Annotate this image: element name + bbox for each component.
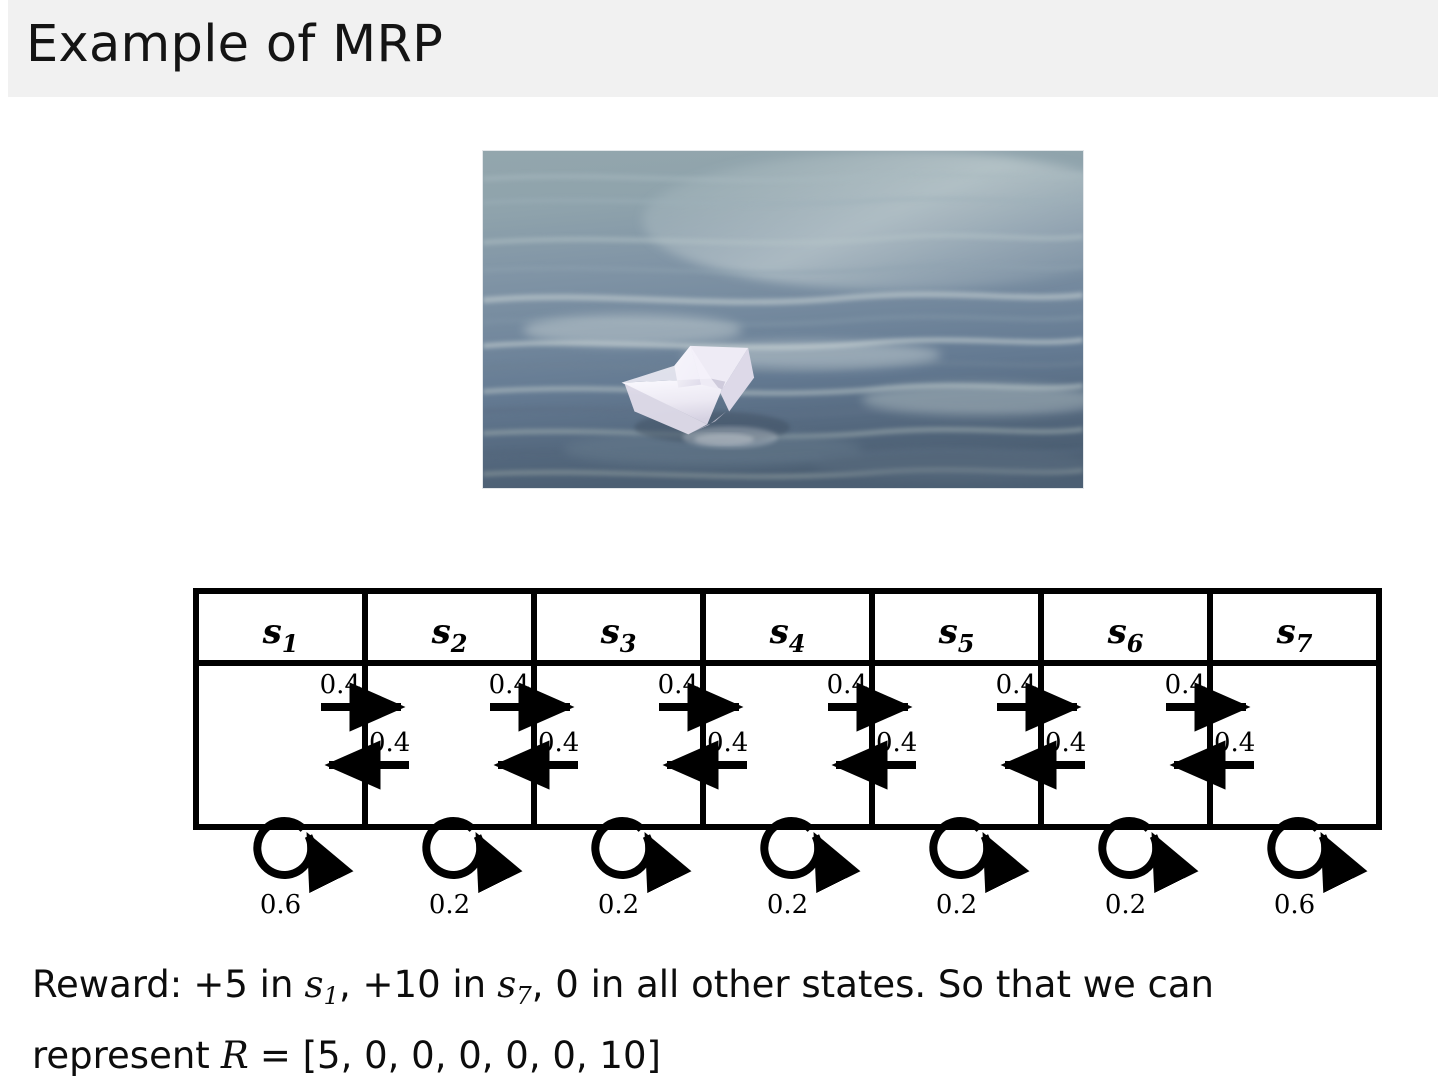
state-label-4: s4 [769,612,806,658]
transition-prob-right-3: 0.4 [658,670,699,700]
self-loop-probability-5: 0.2 [936,890,977,920]
mrp-chain-diagram: s10.6s20.2s30.2s40.2s50.2s60.2s70.60.40.… [193,588,1378,908]
caption-other-states: , 0 in all other states. So that we can [532,963,1214,1006]
caption-state-s1-sub: 1 [324,981,340,1010]
transition-prob-right-2: 0.4 [489,670,530,700]
caption-represent-label: represent [32,1034,210,1077]
caption-reward-label: Reward: [32,963,182,1006]
transition-prob-left-3: 0.4 [707,728,748,758]
state-label-7: s7 [1276,612,1313,658]
reward-caption: Reward:+5 ins1, +10 ins7, 0 in all other… [32,955,1392,1086]
transition-prob-right-6: 0.4 [1165,670,1206,700]
transition-prob-right-4: 0.4 [827,670,868,700]
state-label-1: s1 [262,612,299,658]
state-label-5: s5 [938,612,975,658]
self-loop-probability-7: 0.6 [1274,890,1315,920]
self-loop-probability-3: 0.2 [598,890,639,920]
self-loop-probability-6: 0.2 [1105,890,1146,920]
mrp-chain-svg: s10.6s20.2s30.2s40.2s50.2s60.2s70.60.40.… [193,588,1386,934]
self-loop-probability-2: 0.2 [429,890,470,920]
caption-state-s7-sub: 7 [516,981,532,1010]
self-loop-probability-4: 0.2 [767,890,808,920]
caption-reward-s7-value: , +10 in [339,963,486,1006]
state-label-2: s2 [431,612,468,658]
caption-state-s1: s [305,963,324,1006]
self-loop-probability-1: 0.6 [260,890,301,920]
transition-prob-left-1: 0.4 [369,728,410,758]
slide-header-bar: Example of MRP [8,0,1438,97]
caption-line-2: representR= [5, 0, 0, 0, 0, 0, 10] [32,1026,1392,1086]
caption-line-1: Reward:+5 ins1, +10 ins7, 0 in all other… [32,955,1392,1026]
paper-boat-photo [482,150,1084,489]
caption-reward-vector-symbol: R [221,1034,249,1077]
state-label-6: s6 [1107,612,1144,658]
transition-prob-left-2: 0.4 [538,728,579,758]
caption-reward-s1-value: +5 in [193,963,293,1006]
paper-boat-illustration [483,151,1083,488]
caption-reward-vector-values: = [5, 0, 0, 0, 0, 0, 10] [260,1034,661,1077]
caption-state-s7: s [497,963,516,1006]
transition-prob-right-1: 0.4 [320,670,361,700]
transition-prob-right-5: 0.4 [996,670,1037,700]
transition-prob-left-4: 0.4 [876,728,917,758]
page-title: Example of MRP [26,8,443,82]
transition-prob-left-5: 0.4 [1045,728,1086,758]
transition-prob-left-6: 0.4 [1214,728,1255,758]
state-label-3: s3 [600,612,637,658]
